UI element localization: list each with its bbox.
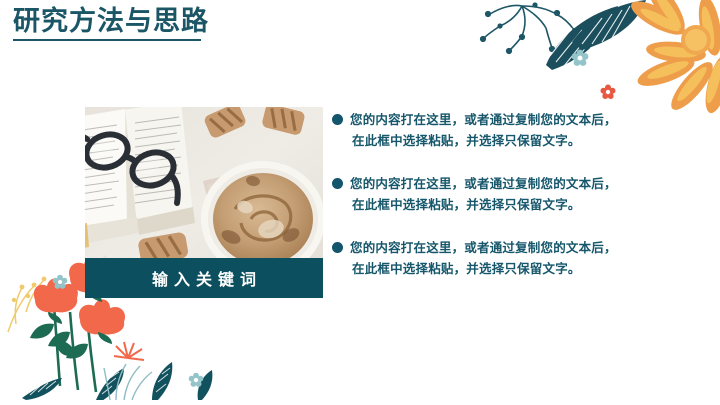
photo-caption-bar[interactable]: 输入关键词: [85, 258, 323, 298]
bullet-item-2[interactable]: 您的内容打在这里，或者通过复制您的文本后， 在此框中选择粘贴，并选择只保留文字。: [332, 174, 637, 216]
bullet-list: 您的内容打在这里，或者通过复制您的文本后， 在此框中选择粘贴，并选择只保留文字。…: [332, 110, 637, 280]
teal-berry-dots: [480, 2, 578, 54]
stem-leaves: [30, 324, 88, 359]
flower-calyx: [48, 290, 112, 344]
photo-caption-text: 输入关键词: [146, 266, 262, 290]
bullet-dot-icon: [332, 178, 343, 189]
fern-fronds: [22, 362, 212, 400]
bullet-item-1[interactable]: 您的内容打在这里，或者通过复制您的文本后， 在此框中选择粘贴，并选择只保留文字。: [332, 110, 637, 152]
small-teal-flower: [572, 50, 589, 66]
bullet-item-3-line-1: 您的内容打在这里，或者通过复制您的文本后，: [350, 238, 637, 259]
bullet-item-3[interactable]: 您的内容打在这里，或者通过复制您的文本后， 在此框中选择粘贴，并选择只保留文字。: [332, 238, 637, 280]
page-title: 研究方法与思路: [13, 6, 433, 37]
bullet-item-1-line-2: 在此框中选择粘贴，并选择只保留文字。: [350, 131, 637, 152]
flower-stems: [54, 306, 96, 392]
small-teal-flower-upper: [53, 275, 68, 289]
bullet-item-2-line-2: 在此框中选择粘贴，并选择只保留文字。: [350, 195, 637, 216]
title-underline: [13, 39, 201, 41]
orange-daisy-flower: [627, 0, 720, 116]
yellow-sprig: [8, 280, 44, 332]
bullet-item-3-line-2: 在此框中选择粘贴，并选择只保留文字。: [350, 259, 637, 280]
bullet-item-2-line-1: 您的内容打在这里，或者通过复制您的文本后，: [350, 174, 637, 195]
orange-spiky-flower: [114, 342, 144, 360]
grass-blades: [104, 364, 152, 400]
teal-berry-branch: [484, 5, 574, 50]
slide-canvas: 研究方法与思路: [0, 0, 720, 405]
bullet-item-1-line-1: 您的内容打在这里，或者通过复制您的文本后，: [350, 110, 637, 131]
small-red-flower: [601, 85, 616, 100]
bullet-dot-icon: [332, 114, 343, 125]
yellow-sprig-dots: [12, 277, 47, 303]
photo-card[interactable]: 输入关键词: [85, 107, 323, 298]
title-block: 研究方法与思路: [13, 6, 433, 41]
bullet-dot-icon: [332, 242, 343, 253]
dark-teal-leaves: [546, 0, 646, 70]
small-teal-flower-lower: [189, 373, 204, 387]
